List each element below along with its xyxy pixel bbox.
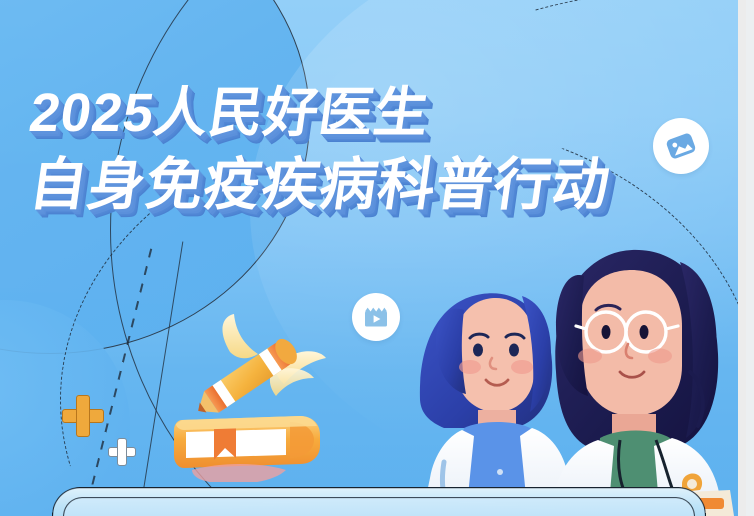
- title-line-2: 自身免疫疾病科普行动: [25, 150, 615, 220]
- plus-orange-icon: [62, 395, 104, 437]
- plus-white-icon: [108, 438, 136, 466]
- pencil-wing-upper: [222, 314, 258, 358]
- book: [174, 416, 320, 468]
- photo-icon: [653, 118, 709, 174]
- poster-title: 2025人民好医生 自身免疫疾病科普行动: [30, 78, 610, 220]
- doctors-illustration: [404, 222, 746, 516]
- poster-canvas: 2025人民好医生 自身免疫疾病科普行动: [0, 0, 746, 516]
- device-panel: [50, 487, 707, 516]
- pencil-and-book-illustration: [168, 312, 348, 482]
- video-icon: [352, 293, 400, 341]
- doctor-right: [550, 250, 734, 516]
- device-panel-inner: [61, 497, 696, 516]
- right-gutter: [738, 0, 746, 516]
- doctor-left: [420, 293, 576, 516]
- title-line-1: 2025人民好医生: [25, 78, 615, 148]
